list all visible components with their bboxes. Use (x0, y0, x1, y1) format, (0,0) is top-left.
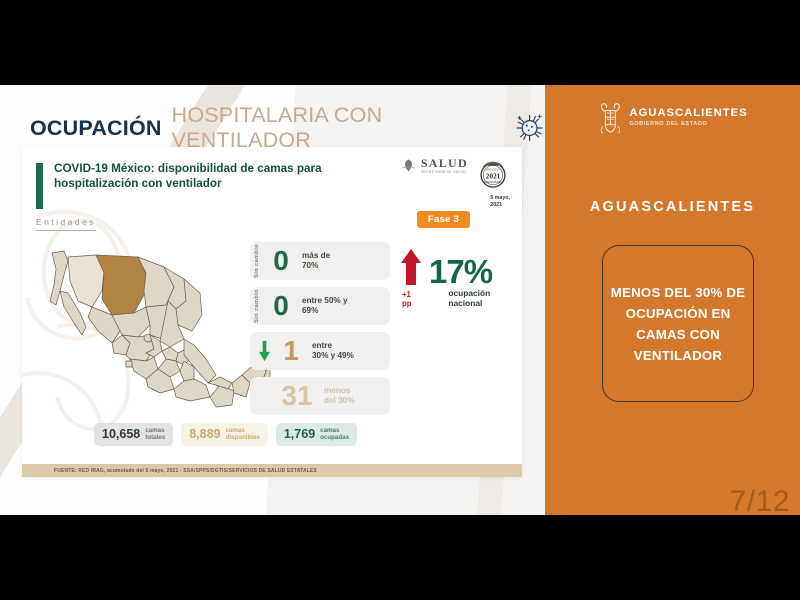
mexico-map[interactable] (34, 235, 274, 415)
stat-label: entre 50% y 69% (302, 296, 348, 316)
source-bar: FUENTE: RED IRAG, acumulado del 5 mayo, … (22, 464, 522, 477)
stat-row[interactable]: Sin cambio 0 más de 70% (250, 242, 390, 280)
source-text: FUENTE: RED IRAG, acumulado del 5 mayo, … (54, 468, 317, 474)
bed-number: 1,769 (284, 428, 315, 441)
card-title: COVID-19 México: disponibilidad de camas… (54, 161, 354, 191)
header-title-bold: OCUPACIÓN (30, 116, 162, 141)
bed-number: 10,658 (102, 428, 140, 441)
letterbox-bottom (0, 515, 800, 600)
gov-name: AGUASCALIENTES (629, 108, 747, 119)
government-logo: AGUASCALIENTES GOBIERNO DEL ESTADO (597, 101, 747, 135)
bed-pill-occupied[interactable]: 1,769 camas ocupadas (276, 423, 357, 446)
content-band: OCUPACIÓN HOSPITALARIA CON VENTILADOR (0, 85, 800, 515)
salud-eagle-icon (400, 157, 417, 174)
bed-pill-total[interactable]: 10,658 camas totales (94, 423, 173, 446)
svg-text:INDEPENDENCIA: INDEPENDENCIA (484, 181, 503, 184)
salud-logo-sub: SECRETARÍA DE SALUD (421, 171, 468, 175)
national-percent: 17% (429, 256, 492, 287)
salud-logo: SALUD SECRETARÍA DE SALUD (400, 157, 468, 174)
svg-text:2021: 2021 (486, 172, 501, 181)
screenshot-root: OCUPACIÓN HOSPITALARIA CON VENTILADOR (0, 0, 800, 600)
bed-label: camas totales (145, 427, 165, 442)
national-occupancy: 17% +1 pp ocupación nacional (400, 247, 518, 308)
state-name: AGUASCALIENTES (545, 199, 800, 215)
salud-logo-name: SALUD (421, 157, 468, 169)
gov-subtitle: GOBIERNO DEL ESTADO (629, 122, 747, 128)
stat-row[interactable]: Sin cambio 0 entre 50% y 69% (250, 287, 390, 325)
stat-label: menos del 30% (324, 386, 355, 406)
fase-badge: Fase 3 (417, 211, 470, 228)
stat-label: entre 30% y 49% (312, 341, 354, 361)
national-delta: +1 pp (402, 290, 420, 308)
bed-label: camas disponibles (225, 427, 259, 442)
change-label: Sin cambio (254, 244, 264, 278)
bed-number: 8,889 (189, 428, 220, 441)
slide-panel: OCUPACIÓN HOSPITALARIA CON VENTILADOR (0, 85, 545, 515)
slide-header: OCUPACIÓN HOSPITALARIA CON VENTILADOR (30, 103, 545, 153)
title-accent-bar (36, 163, 43, 209)
header-title-light: HOSPITALARIA CON VENTILADOR (172, 103, 498, 153)
coronavirus-icon (514, 111, 545, 145)
arrow-down-icon (254, 340, 274, 362)
stat-row[interactable]: 1 entre 30% y 49% (250, 332, 390, 370)
state-panel: AGUASCALIENTES GOBIERNO DEL ESTADO AGUAS… (545, 85, 800, 515)
stat-value: 0 (264, 247, 298, 275)
aguascalientes-coat-of-arms-icon (597, 101, 622, 135)
national-label: ocupación nacional (448, 288, 518, 308)
bed-label: camas ocupadas (320, 427, 349, 442)
stat-row[interactable]: 31 menos del 30% (250, 377, 390, 415)
slide-date: 5 mayo, 2021 (490, 195, 510, 208)
slide-card: COVID-19 México: disponibilidad de camas… (22, 147, 522, 477)
status-message: MENOS DEL 30% DE OCUPACIÓN EN CAMAS CON … (603, 282, 753, 366)
change-label: Sin cambio (254, 289, 264, 323)
status-message-box: MENOS DEL 30% DE OCUPACIÓN EN CAMAS CON … (602, 245, 754, 402)
stat-value: 0 (264, 292, 298, 320)
occupancy-stat-list: Sin cambio 0 más de 70% Sin cambio 0 ent… (250, 242, 390, 422)
arrow-up-icon (400, 247, 422, 287)
independencia-2021-seal-icon: 2021 AÑO DE LA INDEPENDENCIA (476, 157, 510, 191)
letterbox-top (0, 0, 800, 85)
card-logos: SALUD SECRETARÍA DE SALUD 2021 AÑO DE LA… (400, 157, 510, 191)
bed-pill-available[interactable]: 8,889 camas disponibles (181, 423, 268, 446)
stat-label: más de 70% (302, 251, 330, 271)
bed-summary: 10,658 camas totales 8,889 camas disponi… (94, 423, 357, 446)
svg-text:AÑO DE LA: AÑO DE LA (486, 169, 500, 172)
entities-label: Entidades (36, 217, 96, 231)
page-number: 7/12 (730, 485, 790, 515)
stat-value: 1 (274, 337, 308, 365)
stat-value: 31 (274, 382, 320, 410)
